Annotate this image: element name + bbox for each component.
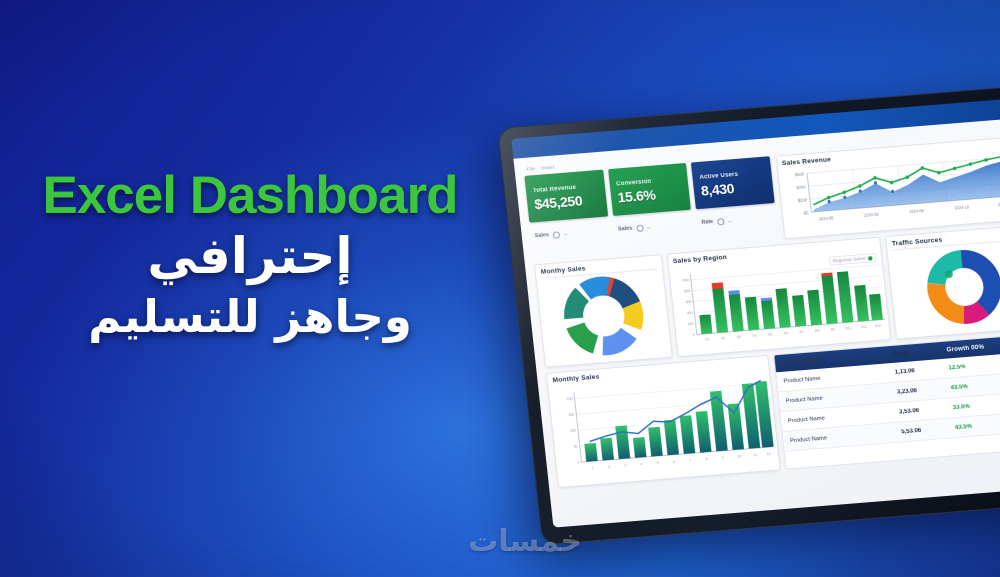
svg-text:300: 300	[686, 311, 692, 316]
kpi-value-conversion: 15.6%	[617, 184, 684, 205]
kpi-card-total-revenue[interactable]: Total Revenue $45,250	[524, 170, 607, 223]
chart-sales-by-region: 600500400 3002000 R1R2R3 R4R5R6 R7R8R9 R…	[669, 251, 890, 350]
tablet-device: File Insert Total Revenue $45,250 Conver…	[497, 85, 1000, 546]
kpi-value-total-revenue: $45,250	[534, 191, 601, 212]
svg-text:500: 500	[684, 289, 690, 294]
svg-text:10: 10	[737, 454, 741, 458]
svg-text:9: 9	[722, 456, 724, 460]
svg-text:3: 3	[624, 464, 626, 468]
cell-growth-4: 43.5%	[955, 420, 1000, 430]
svg-text:5: 5	[657, 461, 659, 465]
svg-text:11: 11	[753, 453, 757, 457]
ellipsis-icon-1[interactable]: ▪▪	[564, 231, 568, 236]
cell-product-2: Product Name	[778, 389, 897, 404]
svg-text:4: 4	[640, 462, 642, 466]
svg-text:R12: R12	[875, 324, 881, 329]
svg-text:7: 7	[689, 458, 691, 462]
svg-text:150: 150	[568, 413, 575, 418]
table-col-growth: Growth 00%	[946, 342, 1000, 353]
headline-title-ar-line1: إحترافي	[0, 224, 500, 288]
legend-swatch-icon	[868, 256, 872, 260]
svg-text:2024-08: 2024-08	[863, 212, 879, 218]
svg-text:8: 8	[705, 457, 707, 461]
cell-sales-3: 3,53.06	[899, 405, 953, 415]
cell-growth-1: 12.5%	[948, 361, 1000, 371]
headline-title-ar-line2: وجاهز للتسليم	[0, 288, 500, 346]
chart-card-revenue-trend[interactable]: Sales Revenue	[775, 136, 1000, 239]
svg-text:2024-10: 2024-10	[954, 204, 970, 210]
ellipsis-icon-3[interactable]: ▪▪	[728, 218, 732, 223]
svg-text:2024-06: 2024-06	[818, 215, 834, 221]
tablet-bezel: File Insert Total Revenue $45,250 Conver…	[497, 85, 1000, 546]
kpi-sub-label-1: Sales	[535, 232, 550, 239]
kpi-sub-label-3: Rate	[701, 219, 713, 226]
svg-text:200: 200	[687, 322, 693, 327]
svg-text:0: 0	[577, 460, 579, 464]
svg-text:600: 600	[683, 278, 689, 283]
watermark: خمسات	[395, 524, 655, 559]
svg-text:R3: R3	[736, 335, 741, 339]
svg-text:$200: $200	[797, 197, 807, 203]
kpi-group: Total Revenue $45,250 Conversion 15.6% A…	[524, 156, 778, 259]
cell-product-1: Product Name	[776, 369, 895, 384]
kpi-sub-conversion: Sales ▪▪	[614, 220, 693, 233]
svg-text:100: 100	[570, 428, 577, 433]
cell-product-3: Product Name	[781, 409, 900, 424]
svg-text:R5: R5	[768, 332, 773, 336]
svg-text:$0: $0	[803, 210, 809, 216]
gauge-icon-2	[636, 224, 644, 232]
svg-text:R2: R2	[721, 336, 726, 340]
svg-text:R10: R10	[845, 326, 851, 331]
svg-text:R1: R1	[705, 337, 710, 341]
kpi-value-active-users: 8,430	[700, 177, 767, 198]
svg-text:0: 0	[692, 333, 694, 337]
table-col-sales: Sales	[892, 347, 946, 358]
kpi-card-active-users[interactable]: Active Users 8,430	[691, 156, 774, 209]
headline-title-en: Excel Dashboard	[0, 168, 500, 224]
chart-card-monthly-sales-donut[interactable]: Monthy Sales	[534, 254, 672, 368]
svg-text:200: 200	[566, 397, 573, 402]
kpi-card-conversion[interactable]: Conversion 15.6%	[608, 163, 691, 216]
toolbar-item-insert[interactable]: Insert	[541, 165, 555, 171]
svg-text:12: 12	[767, 452, 771, 456]
cell-growth-2: 43.5%	[950, 381, 1000, 391]
chart-monthly-sales-combo: 200150 100500 123 456 789 101112	[548, 369, 778, 480]
chart-monthly-sales-donut	[537, 271, 671, 361]
cell-sales-2: 3,23.06	[897, 385, 951, 395]
chart-traffic-sources	[888, 241, 1000, 332]
promo-headline: Excel Dashboard إحترافي وجاهز للتسليم	[0, 168, 500, 345]
gauge-icon-1	[553, 231, 561, 239]
chart-card-traffic-sources[interactable]: Traffic Sources	[885, 224, 1000, 339]
svg-text:50: 50	[574, 444, 578, 448]
table-card-top-products[interactable]: Top Products Sales Growth 00% Product Na…	[773, 333, 1000, 470]
chart-card-sales-by-region[interactable]: Sales by Region Regional Sales	[666, 237, 891, 358]
dashboard-sheet: File Insert Total Revenue $45,250 Conver…	[513, 117, 1000, 527]
bar-overlay-red-1	[711, 282, 723, 289]
cell-sales-1: 1,13.06	[894, 365, 948, 375]
svg-text:R9: R9	[830, 327, 835, 331]
svg-text:1: 1	[592, 466, 594, 470]
cell-sales-4: 5,53.06	[901, 425, 955, 435]
gauge-icon-3	[717, 218, 725, 226]
svg-text:R4: R4	[752, 334, 757, 338]
kpi-sub-active-users: Rate ▪▪	[697, 213, 776, 226]
kpi-sub-total-revenue: Sales ▪▪	[531, 227, 610, 240]
svg-text:400: 400	[685, 300, 691, 305]
ellipsis-icon-2[interactable]: ▪▪	[647, 224, 651, 229]
cell-growth-3: 33.6%	[953, 400, 1000, 410]
svg-text:R11: R11	[861, 325, 867, 330]
chart-card-monthly-sales-combo[interactable]: Monthly Sales	[546, 355, 780, 488]
legend-label-region: Regional Sales	[833, 256, 866, 264]
kpi-sub-label-2: Sales	[618, 225, 633, 232]
cell-product-4: Product Name	[783, 429, 902, 444]
svg-text:$400: $400	[796, 184, 806, 190]
toolbar-item-file[interactable]: File	[526, 166, 535, 172]
svg-text:R6: R6	[783, 331, 788, 335]
svg-text:R8: R8	[815, 329, 820, 333]
tablet-screen: File Insert Total Revenue $45,250 Conver…	[511, 97, 1000, 527]
svg-text:$600: $600	[794, 171, 804, 177]
svg-text:2024-09: 2024-09	[909, 208, 925, 214]
svg-text:R7: R7	[799, 330, 804, 334]
svg-text:2: 2	[608, 465, 610, 469]
svg-text:6: 6	[673, 460, 675, 464]
